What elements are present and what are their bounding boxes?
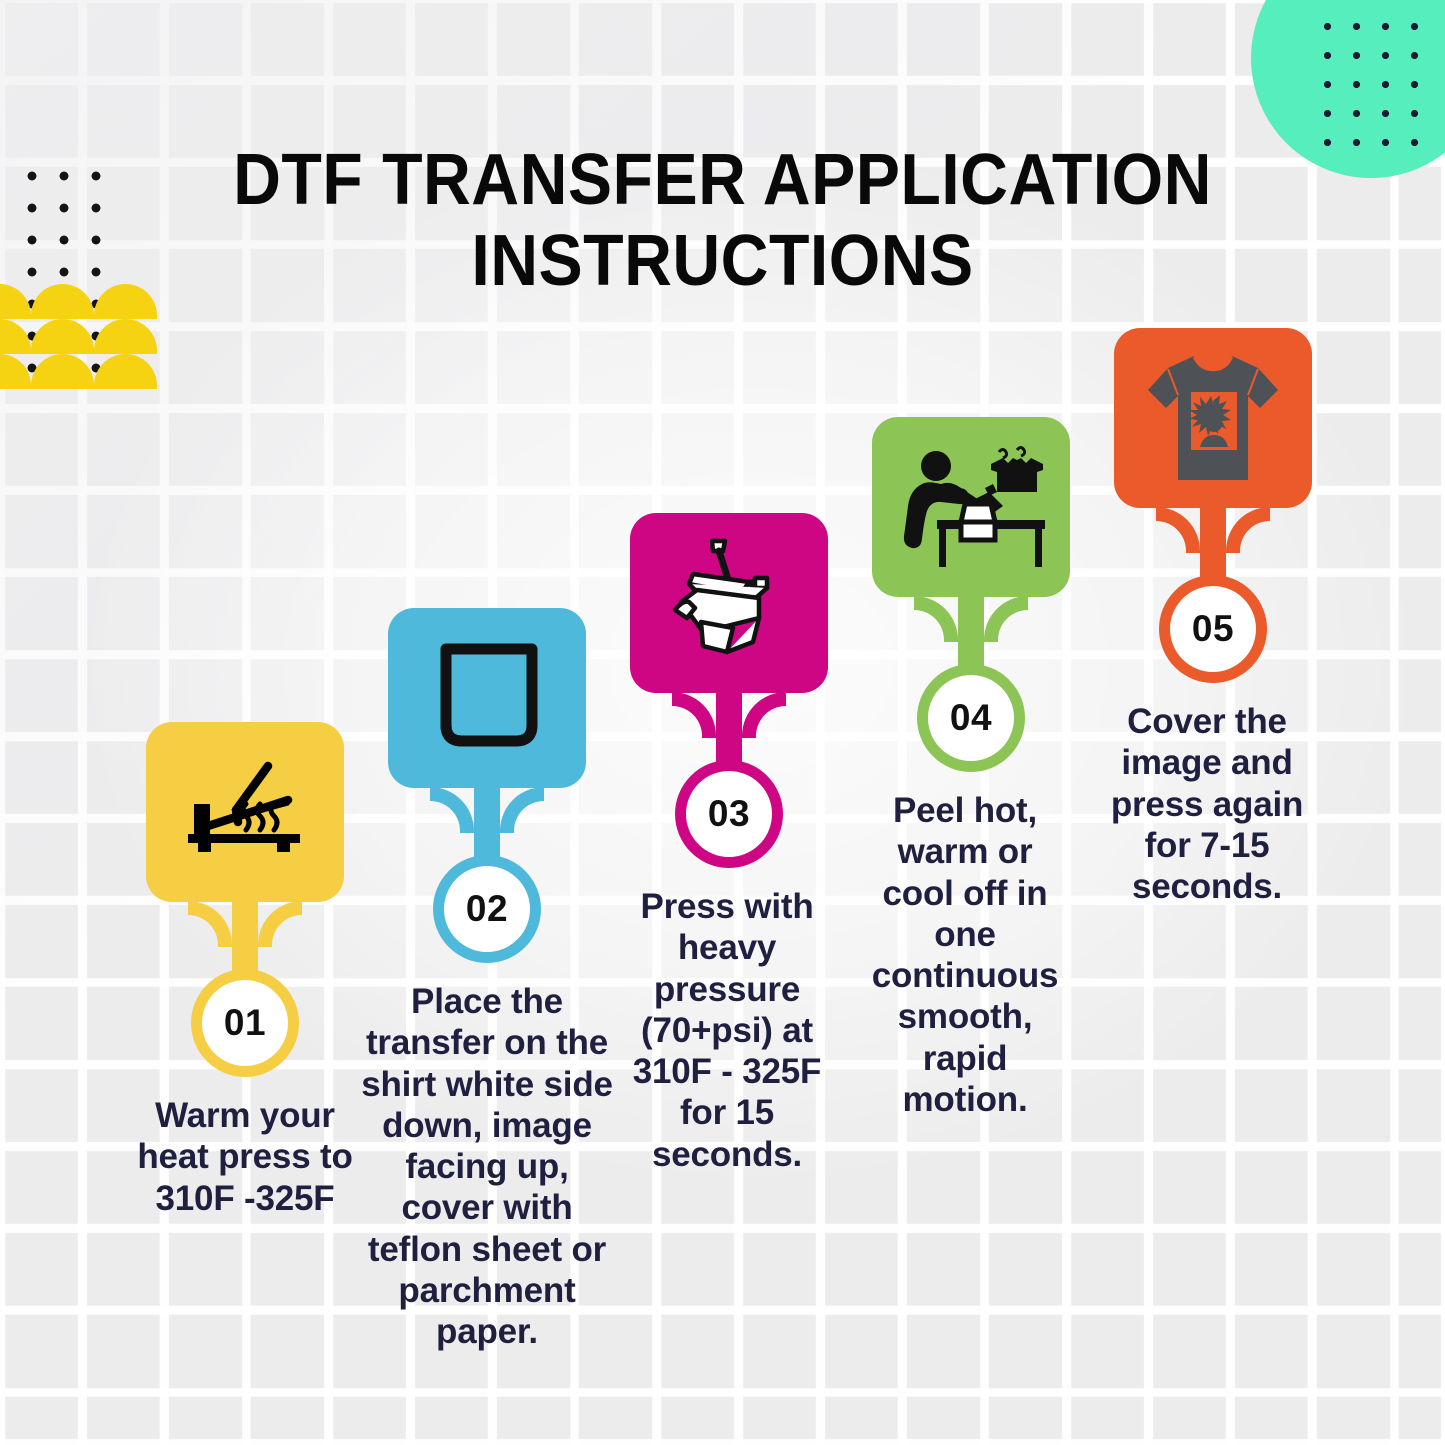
printed-tshirt-icon: [1138, 348, 1288, 488]
step-03-number-badge: 03: [675, 760, 783, 868]
step-item-02: 02 Place the transfer on the shirt white…: [362, 608, 612, 1353]
step-item-05: 05 Cover the image and press again for 7…: [1088, 328, 1338, 907]
step-04-description: Peel hot, warm or cool off in one contin…: [860, 790, 1070, 1120]
step-05-description: Cover the image and press again for 7-15…: [1104, 701, 1310, 907]
step-05-number-badge: 05: [1159, 575, 1267, 683]
heat-press-machine-icon: [663, 536, 795, 670]
step-02-number-badge: 02: [433, 855, 541, 963]
step-04-icon-card: [872, 417, 1070, 597]
step-04-number-badge: 04: [917, 664, 1025, 772]
step-03-description: Press with heavy pressure (70+psi) at 31…: [616, 886, 838, 1175]
worker-peeling-transfer-icon: [895, 442, 1047, 572]
step-05-icon-card: [1114, 328, 1312, 508]
step-02-description: Place the transfer on the shirt white si…: [358, 981, 616, 1353]
step-01-number-badge: 01: [191, 969, 299, 1077]
step-01-icon-card: [146, 722, 344, 902]
step-03-icon-card: [630, 513, 828, 693]
heat-press-open-icon: [180, 760, 310, 864]
step-01-description: Warm your heat press to 310F -325F: [131, 1095, 359, 1219]
steps-container: 01 Warm your heat press to 310F -325F 02…: [0, 0, 1445, 1445]
step-02-icon-card: [388, 608, 586, 788]
step-item-03: 03 Press with heavy pressure (70+psi) at…: [604, 513, 854, 1175]
step-item-01: 01 Warm your heat press to 310F -325F: [120, 722, 370, 1219]
step-item-04: 04 Peel hot, warm or cool off in one con…: [846, 417, 1096, 1120]
fabric-sheet-icon: [428, 641, 546, 755]
